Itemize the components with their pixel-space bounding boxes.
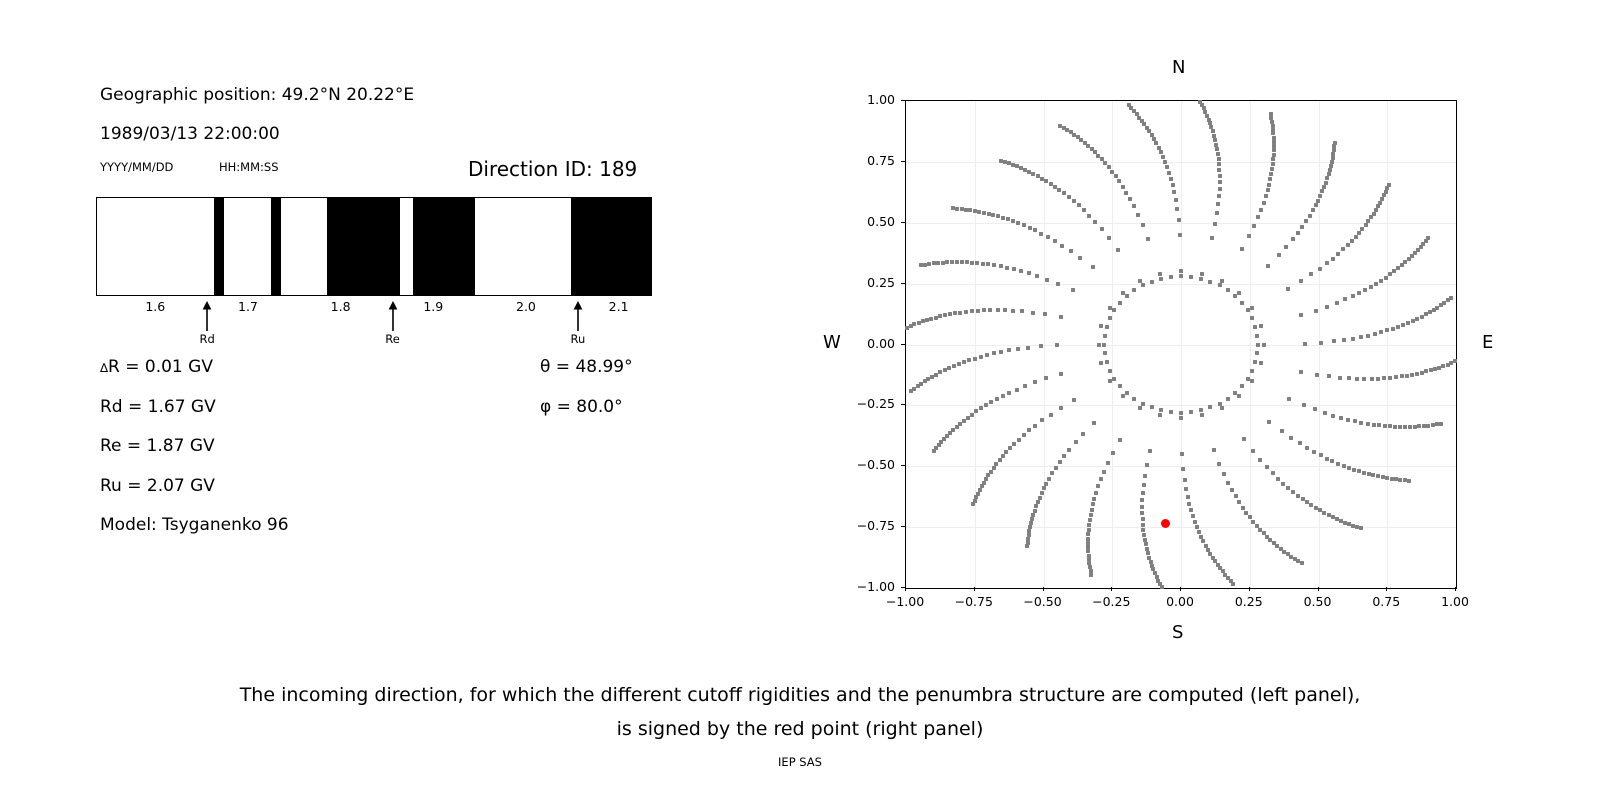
scatter-point bbox=[1331, 414, 1335, 418]
scatter-point bbox=[1330, 160, 1334, 164]
scatter-point bbox=[1341, 247, 1345, 251]
scatter-point bbox=[1069, 130, 1073, 134]
parameter-re: Re = 1.87 GV bbox=[100, 436, 215, 456]
scatter-point bbox=[1441, 364, 1445, 368]
scatter-point bbox=[1189, 410, 1193, 414]
y-tick-label: −0.50 bbox=[833, 457, 895, 472]
scatter-point bbox=[1086, 144, 1090, 148]
scatter-point bbox=[986, 262, 990, 266]
y-tick-label: 0.75 bbox=[833, 153, 895, 168]
scatter-point bbox=[1040, 491, 1044, 495]
x-tick-mark bbox=[1386, 587, 1387, 591]
x-tick-mark bbox=[1043, 587, 1044, 591]
scatter-point bbox=[934, 373, 938, 377]
scatter-point bbox=[1252, 224, 1256, 228]
scatter-point bbox=[1270, 120, 1274, 124]
scatter-point bbox=[1179, 269, 1183, 273]
scatter-point bbox=[1200, 413, 1204, 417]
compass-label-south: S bbox=[1172, 622, 1183, 643]
scatter-point bbox=[1309, 272, 1313, 276]
caption-line-1: The incoming direction, for which the di… bbox=[0, 678, 1600, 712]
scatter-point bbox=[957, 362, 961, 366]
scatter-point bbox=[1175, 207, 1179, 211]
scatter-point bbox=[1200, 272, 1204, 276]
scatter-point bbox=[1272, 144, 1276, 148]
scatter-point bbox=[992, 263, 996, 267]
y-tick-label: 0.50 bbox=[833, 214, 895, 229]
scatter-point bbox=[1318, 267, 1322, 271]
scatter-point bbox=[1347, 376, 1351, 380]
scatter-point bbox=[1357, 469, 1361, 473]
scatter-point bbox=[1110, 170, 1114, 174]
scatter-point bbox=[1270, 167, 1274, 171]
scatter-point bbox=[1046, 235, 1050, 239]
scatter-point bbox=[1165, 165, 1169, 169]
scatter-point bbox=[1140, 498, 1144, 502]
scatter-point bbox=[1280, 429, 1284, 433]
scatter-point bbox=[1103, 334, 1107, 338]
scatter-point bbox=[1376, 377, 1380, 381]
scatter-point bbox=[1359, 421, 1363, 425]
scatter-point bbox=[1205, 114, 1209, 118]
scatter-point bbox=[926, 377, 930, 381]
parameter-theta: θ = 48.99° bbox=[540, 357, 633, 377]
x-tick-mark bbox=[1180, 587, 1181, 591]
scatter-point bbox=[1302, 403, 1306, 407]
scatter-point bbox=[1004, 450, 1008, 454]
gridline-horizontal bbox=[906, 405, 1456, 406]
compass-label-north: N bbox=[1172, 57, 1185, 78]
scatter-point bbox=[1049, 413, 1053, 417]
scatter-point bbox=[1322, 185, 1326, 189]
scatter-point bbox=[1286, 486, 1290, 490]
scatter-point bbox=[1087, 523, 1091, 527]
scatter-point bbox=[962, 419, 966, 423]
scatter-point bbox=[1343, 297, 1347, 301]
scatter-point bbox=[1150, 405, 1154, 409]
scatter-point bbox=[1357, 231, 1361, 235]
scatter-point bbox=[1291, 490, 1295, 494]
scatter-point bbox=[979, 355, 983, 359]
scatter-point bbox=[1145, 126, 1149, 130]
scatter-point bbox=[932, 261, 936, 265]
scatter-point bbox=[1426, 236, 1430, 240]
scatter-point bbox=[1060, 244, 1064, 248]
scatter-point bbox=[1234, 494, 1238, 498]
scatter-point bbox=[909, 389, 913, 393]
scatter-point bbox=[1160, 585, 1164, 589]
scatter-point bbox=[1118, 301, 1122, 305]
scatter-point bbox=[1094, 491, 1098, 495]
scatter-point bbox=[1379, 330, 1383, 334]
scatter-point bbox=[971, 502, 975, 506]
scatter-point bbox=[1200, 103, 1204, 107]
scatter-point bbox=[1127, 103, 1131, 107]
scatter-point bbox=[1406, 321, 1410, 325]
scatter-point bbox=[1218, 402, 1222, 406]
scatter-point bbox=[1314, 309, 1318, 313]
scatter-point bbox=[1328, 168, 1332, 172]
parameter-model: Model: Tsyganenko 96 bbox=[100, 515, 289, 535]
scatter-point bbox=[1240, 247, 1244, 251]
scatter-point bbox=[955, 425, 959, 429]
scatter-point bbox=[1237, 394, 1241, 398]
scatter-point bbox=[1305, 500, 1309, 504]
scatter-point bbox=[1146, 237, 1150, 241]
scatter-point bbox=[1148, 449, 1152, 453]
scatter-point bbox=[1146, 551, 1150, 555]
scatter-point bbox=[1246, 308, 1250, 312]
scatter-point bbox=[999, 264, 1003, 268]
scatter-point bbox=[1220, 279, 1224, 283]
scatter-point bbox=[1322, 511, 1326, 515]
scatter-point bbox=[1099, 477, 1103, 481]
scatter-point bbox=[1058, 460, 1062, 464]
scatter-point bbox=[970, 309, 974, 313]
scatter-point bbox=[1311, 208, 1315, 212]
scatter-point bbox=[1040, 418, 1044, 422]
y-tick-mark bbox=[901, 222, 905, 223]
gridline-horizontal bbox=[906, 345, 1456, 346]
scatter-point bbox=[943, 313, 947, 317]
scatter-point bbox=[1298, 441, 1302, 445]
scatter-point bbox=[1250, 369, 1254, 373]
scatter-point bbox=[1089, 513, 1093, 517]
scatter-point bbox=[1398, 478, 1402, 482]
scatter-point bbox=[1177, 218, 1181, 222]
scatter-point bbox=[1059, 372, 1063, 376]
scatter-point bbox=[1208, 280, 1212, 284]
scatter-point bbox=[919, 263, 923, 267]
scatter-point bbox=[1217, 462, 1221, 466]
scatter-point bbox=[1044, 482, 1048, 486]
scatter-point bbox=[1161, 155, 1165, 159]
scatter-point bbox=[1208, 405, 1212, 409]
scatter-point bbox=[1147, 556, 1151, 560]
scatter-point bbox=[1199, 408, 1203, 412]
scatter-point bbox=[1043, 312, 1047, 316]
scatter-point bbox=[1103, 161, 1107, 165]
penumbra-black-band bbox=[327, 198, 400, 295]
scatter-point bbox=[1256, 215, 1260, 219]
scatter-point bbox=[1108, 306, 1112, 310]
scatter-point bbox=[1163, 160, 1167, 164]
scatter-point bbox=[1150, 280, 1154, 284]
scatter-point bbox=[1078, 256, 1082, 260]
scatter-point bbox=[1431, 423, 1435, 427]
scatter-point bbox=[1040, 177, 1044, 181]
scatter-point bbox=[1286, 287, 1290, 291]
scatter-point bbox=[1172, 190, 1176, 194]
scatter-point bbox=[1420, 371, 1424, 375]
scatter-point bbox=[1271, 157, 1275, 161]
scatter-point bbox=[1092, 497, 1096, 501]
scatter-point bbox=[1244, 511, 1248, 515]
scatter-point bbox=[989, 400, 993, 404]
scatter-point bbox=[1331, 156, 1335, 160]
scatter-point bbox=[1058, 124, 1062, 128]
scatter-point bbox=[1330, 459, 1334, 463]
scatter-point bbox=[1242, 437, 1246, 441]
scatter-point bbox=[1049, 182, 1053, 186]
penumbra-black-band bbox=[413, 198, 475, 295]
scatter-point bbox=[1028, 226, 1032, 230]
scatter-point bbox=[953, 311, 957, 315]
scatter-point bbox=[1117, 179, 1121, 183]
scatter-point bbox=[1401, 323, 1405, 327]
scatter-point bbox=[1042, 486, 1046, 490]
scatter-point bbox=[1211, 129, 1215, 133]
scatter-point bbox=[1352, 468, 1356, 472]
scatter-point bbox=[943, 368, 947, 372]
scatter-point bbox=[1093, 220, 1097, 224]
scatter-point bbox=[1121, 291, 1125, 295]
scatter-point bbox=[1112, 308, 1116, 312]
scatter-point bbox=[1331, 152, 1335, 156]
scatter-point bbox=[962, 360, 966, 364]
scatter-point bbox=[1184, 487, 1188, 491]
scatter-point bbox=[1392, 269, 1396, 273]
scatter-point bbox=[1016, 347, 1020, 351]
scatter-point bbox=[1272, 153, 1276, 157]
penumbra-marker-arrow-re bbox=[386, 301, 400, 331]
scatter-point bbox=[1026, 346, 1030, 350]
scatter-point bbox=[1140, 511, 1144, 515]
scatter-point bbox=[1251, 449, 1255, 453]
scatter-point bbox=[1169, 275, 1173, 279]
x-tick-mark bbox=[1318, 587, 1319, 591]
scatter-point bbox=[1069, 249, 1073, 253]
scatter-point bbox=[1325, 305, 1329, 309]
scatter-point bbox=[1089, 573, 1093, 577]
scatter-point bbox=[1376, 204, 1380, 208]
scatter-point bbox=[1267, 183, 1271, 187]
scatter-point bbox=[1379, 279, 1383, 283]
scatter-point bbox=[1250, 306, 1254, 310]
scatter-point bbox=[1346, 418, 1350, 422]
scatter-point bbox=[1195, 525, 1199, 529]
scatter-point bbox=[1105, 360, 1109, 364]
scatter-point bbox=[1226, 397, 1230, 401]
x-tick-mark bbox=[1455, 587, 1456, 591]
scatter-point bbox=[1114, 174, 1118, 178]
scatter-point bbox=[1318, 194, 1322, 198]
scatter-point bbox=[1191, 514, 1195, 518]
scatter-point bbox=[1036, 174, 1040, 178]
scatter-point bbox=[1312, 450, 1316, 454]
date-format-hint: YYYY/MM/DD bbox=[100, 160, 173, 174]
scatter-point bbox=[1248, 515, 1252, 519]
scatter-point bbox=[996, 214, 1000, 218]
scatter-point bbox=[1100, 157, 1104, 161]
scatter-point bbox=[1233, 294, 1237, 298]
scatter-point bbox=[1351, 337, 1355, 341]
y-tick-mark bbox=[901, 526, 905, 527]
scatter-point bbox=[1272, 148, 1276, 152]
scatter-point bbox=[1359, 526, 1363, 530]
scatter-point bbox=[1277, 253, 1281, 257]
scatter-point bbox=[1373, 332, 1377, 336]
scatter-point bbox=[1007, 161, 1011, 165]
scatter-point bbox=[923, 379, 927, 383]
scatter-point bbox=[1264, 194, 1268, 198]
scatter-point bbox=[1269, 116, 1273, 120]
scatter-point bbox=[1217, 194, 1221, 198]
penumbra-marker-label-rd: Rd bbox=[187, 332, 227, 346]
scatter-point bbox=[1230, 488, 1234, 492]
scatter-point bbox=[1216, 202, 1220, 206]
scatter-point bbox=[1083, 141, 1087, 145]
scatter-point bbox=[1023, 168, 1027, 172]
scatter-point bbox=[909, 324, 913, 328]
scatter-point bbox=[1325, 261, 1329, 265]
scatter-point bbox=[1033, 228, 1037, 232]
scatter-point bbox=[1314, 203, 1318, 207]
scatter-point bbox=[1102, 343, 1106, 347]
scatter-point bbox=[967, 358, 971, 362]
scatter-point bbox=[1180, 452, 1184, 456]
scatter-point bbox=[1102, 470, 1106, 474]
scatter-point bbox=[1218, 187, 1222, 191]
scatter-point bbox=[1396, 325, 1400, 329]
scatter-point bbox=[1096, 484, 1100, 488]
scatter-point bbox=[982, 308, 986, 312]
scatter-point bbox=[1332, 144, 1336, 148]
x-tick-mark bbox=[974, 587, 975, 591]
scatter-point bbox=[1385, 476, 1389, 480]
scatter-point bbox=[1246, 377, 1250, 381]
scatter-point bbox=[1209, 125, 1213, 129]
scatter-point bbox=[1097, 343, 1101, 347]
scatter-point bbox=[1291, 237, 1295, 241]
penumbra-tick-label: 2.0 bbox=[516, 299, 536, 314]
scatter-point bbox=[1353, 419, 1357, 423]
scatter-point bbox=[1007, 391, 1011, 395]
scatter-point bbox=[1378, 201, 1382, 205]
scatter-point bbox=[952, 364, 956, 368]
scatter-point bbox=[1210, 236, 1214, 240]
scatter-point bbox=[1250, 379, 1254, 383]
scatter-point bbox=[1268, 177, 1272, 181]
penumbra-tick-label: 2.1 bbox=[609, 299, 629, 314]
scatter-point bbox=[1147, 129, 1151, 133]
scatter-point bbox=[1253, 325, 1257, 329]
scatter-point bbox=[1099, 324, 1103, 328]
penumbra-black-band bbox=[571, 198, 652, 295]
scatter-point bbox=[1079, 138, 1083, 142]
scatter-point bbox=[1250, 316, 1254, 320]
scatter-point bbox=[1271, 124, 1275, 128]
scatter-point bbox=[1067, 448, 1071, 452]
scatter-point bbox=[1198, 100, 1202, 104]
scatter-point bbox=[1266, 264, 1270, 268]
scatter-point bbox=[1022, 433, 1026, 437]
direction-id-label: Direction ID: 189 bbox=[468, 157, 637, 181]
scatter-point bbox=[1213, 222, 1217, 226]
scatter-point bbox=[1076, 135, 1080, 139]
scatter-point bbox=[1062, 454, 1066, 458]
scatter-point bbox=[1044, 376, 1048, 380]
scatter-point bbox=[1300, 561, 1304, 565]
scatter-point bbox=[1045, 278, 1049, 282]
scatter-point bbox=[1199, 277, 1203, 281]
scatter-point bbox=[1111, 451, 1115, 455]
scatter-point bbox=[1086, 532, 1090, 536]
scatter-point bbox=[1143, 538, 1147, 542]
scatter-point bbox=[1027, 271, 1031, 275]
scatter-point bbox=[1128, 197, 1132, 201]
scatter-point bbox=[1027, 170, 1031, 174]
scatter-point bbox=[1289, 436, 1293, 440]
scatter-point bbox=[1197, 530, 1201, 534]
penumbra-tick-label: 1.6 bbox=[145, 299, 165, 314]
scatter-point bbox=[1382, 193, 1386, 197]
scatter-point bbox=[1071, 288, 1075, 292]
scatter-point bbox=[1106, 461, 1110, 465]
y-tick-mark bbox=[901, 344, 905, 345]
scatter-point bbox=[1267, 420, 1271, 424]
scatter-point bbox=[1231, 582, 1235, 586]
scatter-point bbox=[1050, 471, 1054, 475]
scatter-point bbox=[1388, 424, 1392, 428]
scatter-point bbox=[1271, 128, 1275, 132]
scatter-point bbox=[1125, 294, 1129, 298]
scatter-point bbox=[1240, 301, 1244, 305]
scatter-point bbox=[1255, 351, 1259, 355]
scatter-point bbox=[1217, 157, 1221, 161]
scatter-point bbox=[1327, 172, 1331, 176]
scatter-point bbox=[1320, 189, 1324, 193]
scatter-point bbox=[1226, 481, 1230, 485]
y-tick-label: −0.25 bbox=[833, 396, 895, 411]
scatter-point bbox=[1107, 165, 1111, 169]
scatter-point bbox=[947, 366, 951, 370]
scatter-point bbox=[1299, 279, 1303, 283]
scatter-point bbox=[1158, 272, 1162, 276]
scatter-point bbox=[1417, 424, 1421, 428]
penumbra-bar-track bbox=[96, 197, 652, 295]
scatter-point bbox=[1169, 410, 1173, 414]
scatter-point bbox=[1121, 185, 1125, 189]
scatter-point bbox=[974, 409, 978, 413]
scatter-point bbox=[1067, 195, 1071, 199]
scatter-point bbox=[970, 413, 974, 417]
scatter-point bbox=[1316, 199, 1320, 203]
scatter-point bbox=[1331, 257, 1335, 261]
scatter-point bbox=[999, 350, 1003, 354]
scatter-point bbox=[1305, 446, 1309, 450]
scatter-point bbox=[1336, 462, 1340, 466]
scatter-point bbox=[1388, 376, 1392, 380]
scatter-point bbox=[1258, 458, 1262, 462]
scatter-point bbox=[1169, 177, 1173, 181]
scatter-point bbox=[1022, 223, 1026, 227]
scatter-point bbox=[1215, 147, 1219, 151]
scatter-point bbox=[1212, 134, 1216, 138]
scatter-point bbox=[1400, 374, 1404, 378]
scatter-point bbox=[1374, 208, 1378, 212]
gridline-horizontal bbox=[906, 527, 1456, 528]
scatter-plot-area bbox=[905, 100, 1457, 589]
geographic-position-label: Geographic position: 49.2°N 20.22°E bbox=[100, 85, 414, 105]
scatter-point bbox=[921, 319, 925, 323]
scatter-point bbox=[1390, 477, 1394, 481]
direction-scatter-panel: N S E W −1.00−0.75−0.50−0.250.000.250.50… bbox=[830, 40, 1550, 650]
x-tick-label: 1.00 bbox=[1415, 594, 1495, 609]
scatter-point bbox=[1103, 351, 1107, 355]
scatter-point bbox=[930, 375, 934, 379]
scatter-point bbox=[1212, 448, 1216, 452]
